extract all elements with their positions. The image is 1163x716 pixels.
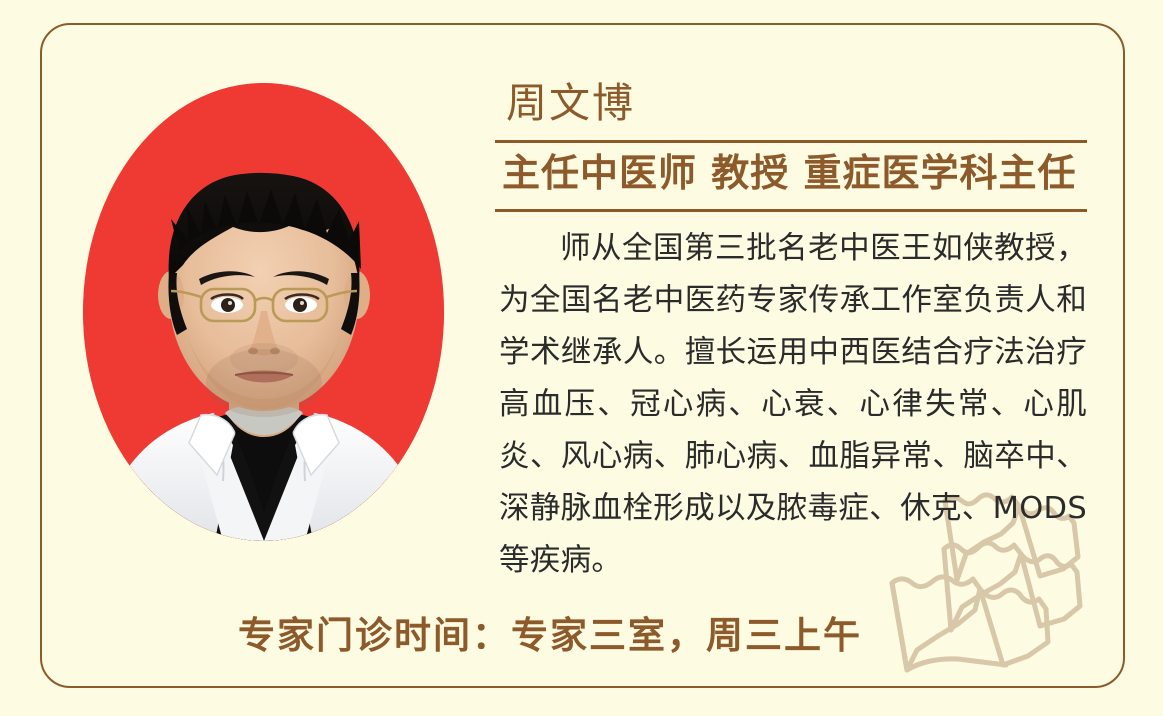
- doctor-info-block: 周文博 主任中医师 教授 重症医学科主任 师从全国第三批名老中医王如侠教授，为全…: [495, 78, 1087, 587]
- doctor-biography: 师从全国第三批名老中医王如侠教授，为全国名老中医药专家传承工作室负责人和学术继承…: [495, 223, 1087, 587]
- divider-below-titles: [495, 209, 1087, 212]
- doctor-titles: 主任中医师 教授 重症医学科主任: [495, 143, 1087, 202]
- doctor-profile-card: 周文博 主任中医师 教授 重症医学科主任 师从全国第三批名老中医王如侠教授，为全…: [0, 0, 1163, 716]
- clinic-hours-text: 专家门诊时间：专家三室，周三上午: [0, 608, 1100, 664]
- doctor-portrait-photo: [83, 83, 444, 541]
- doctor-name: 周文博: [495, 78, 1087, 128]
